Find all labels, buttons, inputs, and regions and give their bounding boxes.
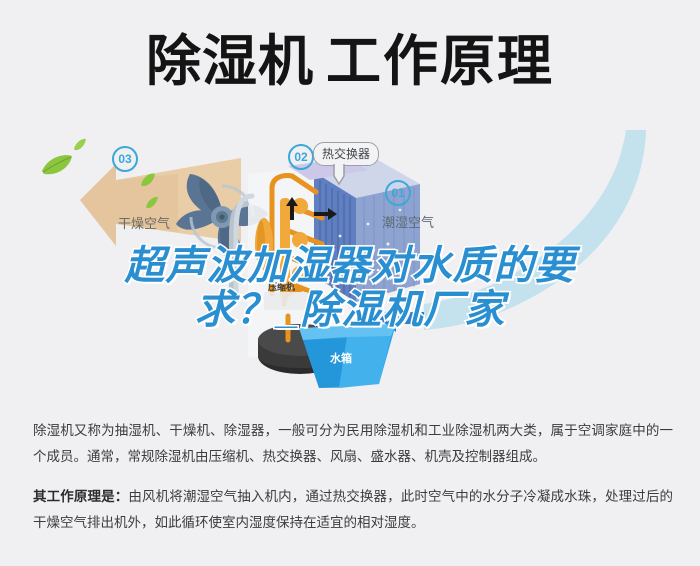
leaf-icon <box>140 172 156 188</box>
caption-dry-air: 干燥空气 <box>118 213 170 232</box>
article-paragraph-2-text: 由风机将潮湿空气抽入机内，通过热交换器，此时空气中的水分子冷凝成水珠，处理过后的… <box>33 489 673 530</box>
leaf-icon <box>40 153 74 177</box>
caption-humid-air: 潮湿空气 <box>382 212 434 231</box>
title-part2: 工作原理 <box>326 30 554 92</box>
leaf-icon <box>145 196 159 210</box>
callout-pointer-icon <box>332 164 346 186</box>
diagram-marker-03: 03 <box>112 146 138 172</box>
diagram-marker-01: 01 <box>385 180 411 206</box>
diagram-marker-02: 02 <box>288 144 314 170</box>
article-paragraph-1: 除湿机又称为抽湿机、干燥机、除湿器，一般可分为民用除湿机和工业除湿机两大类，属于… <box>33 418 673 470</box>
article-body: 除湿机又称为抽湿机、干燥机、除湿器，一般可分为民用除湿机和工业除湿机两大类，属于… <box>33 418 673 550</box>
page-title: 除湿机工作原理 <box>0 30 700 92</box>
caption-water-tank: 水箱 <box>330 350 352 366</box>
heat-exchanger-callout: 热交换器 <box>313 142 379 166</box>
title-part1: 除湿机 <box>146 30 314 92</box>
page-root: 除湿机工作原理 <box>0 0 700 566</box>
diagram-illustration: 03 02 01 热交换器 干燥空气 潮湿空气 水箱 压缩机 02 空气经过蒸发… <box>0 128 700 410</box>
leaf-icon <box>73 138 87 152</box>
article-paragraph-2-label: 其工作原理是： <box>33 489 128 504</box>
article-paragraph-2: 其工作原理是：由风机将潮湿空气抽入机内，通过热交换器，此时空气中的水分子冷凝成水… <box>33 484 673 536</box>
caption-compressor: 压缩机 <box>268 280 295 293</box>
title-text: 除湿机工作原理 <box>146 30 554 92</box>
